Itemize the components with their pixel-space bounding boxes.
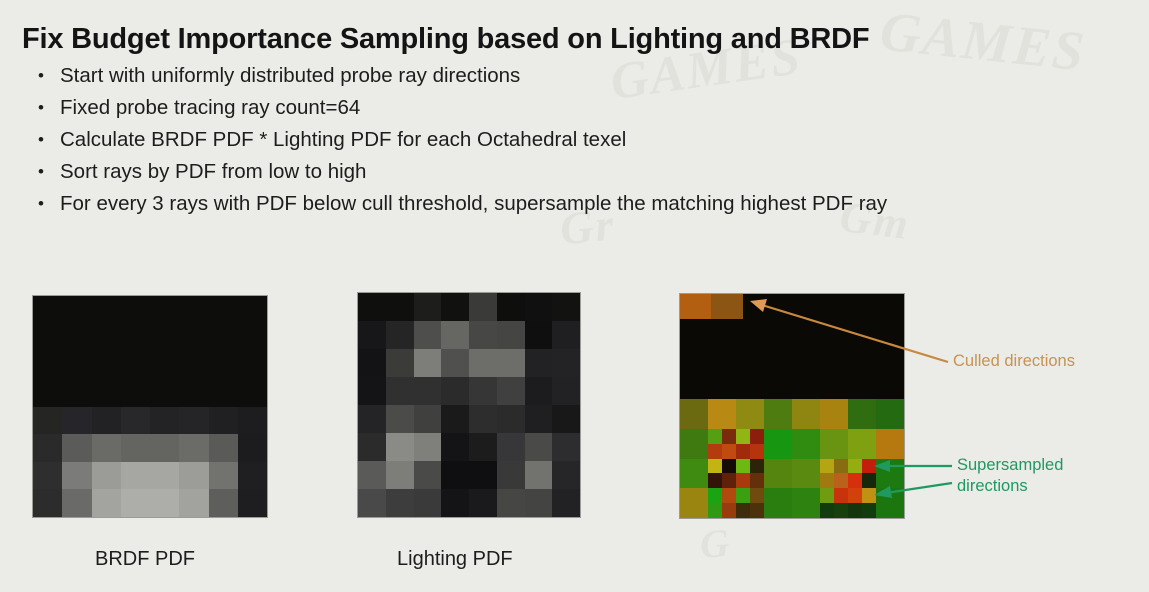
texel bbox=[552, 349, 580, 377]
sub-texel bbox=[820, 473, 834, 488]
texel bbox=[62, 462, 91, 490]
texel bbox=[386, 293, 414, 321]
texel bbox=[736, 399, 764, 429]
sub-texel bbox=[848, 488, 862, 503]
texel bbox=[414, 349, 442, 377]
sub-texel bbox=[820, 459, 834, 474]
texel bbox=[792, 429, 820, 459]
texel bbox=[469, 349, 497, 377]
sub-texel bbox=[736, 488, 750, 503]
sub-texel bbox=[736, 444, 750, 459]
texel bbox=[92, 351, 121, 379]
sub-texel bbox=[834, 473, 848, 488]
texel bbox=[441, 321, 469, 349]
texel bbox=[179, 434, 208, 462]
texel bbox=[552, 433, 580, 461]
texel bbox=[179, 351, 208, 379]
texel bbox=[525, 349, 553, 377]
texel bbox=[414, 405, 442, 433]
sub-texel bbox=[834, 503, 848, 518]
texel bbox=[469, 489, 497, 517]
sub-texel bbox=[862, 488, 876, 503]
texel bbox=[764, 459, 792, 489]
watermark-decoration: G bbox=[698, 519, 732, 568]
bullet-text: Start with uniformly distributed probe r… bbox=[60, 60, 1142, 92]
bullet-text: For every 3 rays with PDF below cull thr… bbox=[60, 188, 1142, 220]
texel bbox=[33, 379, 62, 407]
list-item: • For every 3 rays with PDF below cull t… bbox=[22, 188, 1142, 220]
texel bbox=[414, 377, 442, 405]
bullet-marker-icon: • bbox=[22, 92, 60, 124]
texel bbox=[497, 461, 525, 489]
texel bbox=[92, 462, 121, 490]
annotation-supersampled-line1: Supersampled bbox=[957, 455, 1063, 476]
texel bbox=[792, 459, 820, 489]
supersampled-texel bbox=[820, 459, 848, 489]
texel bbox=[92, 489, 121, 517]
culled-texel bbox=[680, 294, 711, 319]
texel bbox=[441, 489, 469, 517]
texel bbox=[469, 377, 497, 405]
texel bbox=[121, 351, 150, 379]
texel bbox=[876, 399, 904, 429]
texel bbox=[525, 489, 553, 517]
texel bbox=[62, 324, 91, 352]
texel bbox=[209, 351, 238, 379]
texel bbox=[414, 461, 442, 489]
bullet-marker-icon: • bbox=[22, 156, 60, 188]
texel bbox=[469, 293, 497, 321]
texel bbox=[876, 488, 904, 518]
texel bbox=[680, 429, 708, 459]
sub-texel bbox=[736, 429, 750, 444]
texel bbox=[150, 379, 179, 407]
texel bbox=[358, 405, 386, 433]
texel bbox=[680, 459, 708, 489]
texel bbox=[469, 321, 497, 349]
octa-dark-region bbox=[680, 294, 904, 399]
texel bbox=[386, 489, 414, 517]
sub-texel bbox=[750, 503, 764, 518]
list-item: • Fixed probe tracing ray count=64 bbox=[22, 92, 1142, 124]
supersampled-texel bbox=[736, 459, 764, 489]
texel bbox=[209, 489, 238, 517]
figure-octahedral-sampling bbox=[679, 293, 905, 519]
texel bbox=[792, 399, 820, 429]
texel bbox=[179, 379, 208, 407]
texel bbox=[497, 433, 525, 461]
sub-texel bbox=[848, 503, 862, 518]
supersampled-texel bbox=[708, 488, 736, 518]
supersampled-texel bbox=[708, 459, 736, 489]
sub-texel bbox=[708, 473, 722, 488]
texel bbox=[386, 377, 414, 405]
sub-texel bbox=[750, 444, 764, 459]
bullet-text: Calculate BRDF PDF * Lighting PDF for ea… bbox=[60, 124, 1142, 156]
texel bbox=[209, 324, 238, 352]
texel bbox=[764, 429, 792, 459]
texel bbox=[441, 349, 469, 377]
texel bbox=[62, 351, 91, 379]
texel bbox=[441, 461, 469, 489]
list-item: • Sort rays by PDF from low to high bbox=[22, 156, 1142, 188]
texel bbox=[238, 434, 267, 462]
sub-texel bbox=[862, 459, 876, 474]
bullet-marker-icon: • bbox=[22, 124, 60, 156]
texel bbox=[33, 351, 62, 379]
bullet-text: Fixed probe tracing ray count=64 bbox=[60, 92, 1142, 124]
texel bbox=[209, 296, 238, 324]
texel bbox=[497, 405, 525, 433]
bullet-text: Sort rays by PDF from low to high bbox=[60, 156, 1142, 188]
texel bbox=[386, 405, 414, 433]
sub-texel bbox=[750, 473, 764, 488]
texel bbox=[150, 296, 179, 324]
texel bbox=[414, 321, 442, 349]
brdf-texel-grid bbox=[33, 296, 267, 517]
culled-directions-texels bbox=[680, 294, 743, 319]
texel bbox=[121, 324, 150, 352]
texel bbox=[150, 434, 179, 462]
texel bbox=[414, 433, 442, 461]
sub-texel bbox=[820, 503, 834, 518]
texel bbox=[209, 407, 238, 435]
sub-texel bbox=[834, 488, 848, 503]
texel bbox=[708, 399, 736, 429]
texel bbox=[497, 293, 525, 321]
slide-title: Fix Budget Importance Sampling based on … bbox=[22, 23, 869, 56]
annotation-supersampled-line2: directions bbox=[957, 476, 1063, 497]
texel bbox=[238, 407, 267, 435]
texel bbox=[848, 399, 876, 429]
sub-texel bbox=[820, 488, 834, 503]
figure-brdf-pdf bbox=[32, 295, 268, 518]
texel bbox=[469, 405, 497, 433]
texel bbox=[62, 296, 91, 324]
texel bbox=[441, 293, 469, 321]
texel bbox=[414, 293, 442, 321]
list-item: • Calculate BRDF PDF * Lighting PDF for … bbox=[22, 124, 1142, 156]
texel bbox=[238, 489, 267, 517]
texel bbox=[92, 296, 121, 324]
texel bbox=[358, 321, 386, 349]
sub-texel bbox=[848, 473, 862, 488]
texel bbox=[525, 321, 553, 349]
texel bbox=[238, 351, 267, 379]
texel bbox=[680, 488, 708, 518]
texel bbox=[179, 324, 208, 352]
sub-texel bbox=[862, 473, 876, 488]
supersampled-texel bbox=[820, 488, 848, 518]
sub-texel bbox=[848, 459, 862, 474]
texel bbox=[441, 377, 469, 405]
texel bbox=[121, 434, 150, 462]
texel bbox=[497, 349, 525, 377]
sub-texel bbox=[722, 444, 736, 459]
texel bbox=[552, 377, 580, 405]
texel bbox=[386, 461, 414, 489]
bullet-list: • Start with uniformly distributed probe… bbox=[22, 60, 1142, 220]
texel bbox=[848, 429, 876, 459]
texel bbox=[386, 433, 414, 461]
texel bbox=[386, 349, 414, 377]
texel bbox=[62, 407, 91, 435]
texel bbox=[441, 405, 469, 433]
sub-texel bbox=[736, 459, 750, 474]
texel bbox=[358, 433, 386, 461]
texel bbox=[238, 379, 267, 407]
texel bbox=[33, 324, 62, 352]
supersampled-texel bbox=[708, 429, 736, 459]
sub-texel bbox=[708, 429, 722, 444]
texel bbox=[441, 433, 469, 461]
texel bbox=[525, 433, 553, 461]
texel bbox=[469, 461, 497, 489]
sub-texel bbox=[722, 473, 736, 488]
texel bbox=[820, 429, 848, 459]
texel bbox=[358, 489, 386, 517]
texel bbox=[121, 379, 150, 407]
bullet-marker-icon: • bbox=[22, 60, 60, 92]
sub-texel bbox=[722, 459, 736, 474]
texel bbox=[552, 461, 580, 489]
texel bbox=[876, 459, 904, 489]
slide-canvas: GAMES GAMES Gr Gm G Fix Budget Importanc… bbox=[0, 0, 1149, 592]
supersampled-texel bbox=[848, 459, 876, 489]
texel bbox=[121, 489, 150, 517]
texel bbox=[179, 296, 208, 324]
texel bbox=[876, 429, 904, 459]
texel bbox=[469, 433, 497, 461]
texel bbox=[209, 434, 238, 462]
texel bbox=[62, 434, 91, 462]
texel bbox=[150, 351, 179, 379]
texel bbox=[92, 434, 121, 462]
culled-texel bbox=[711, 294, 742, 319]
texel bbox=[680, 399, 708, 429]
texel bbox=[414, 489, 442, 517]
texel bbox=[150, 407, 179, 435]
caption-lighting-pdf: Lighting PDF bbox=[397, 548, 513, 571]
texel bbox=[150, 462, 179, 490]
texel bbox=[764, 399, 792, 429]
texel bbox=[525, 293, 553, 321]
supersampled-texel bbox=[736, 429, 764, 459]
sub-texel bbox=[750, 459, 764, 474]
list-item: • Start with uniformly distributed probe… bbox=[22, 60, 1142, 92]
annotation-supersampled-directions: Supersampled directions bbox=[957, 455, 1063, 497]
texel bbox=[179, 407, 208, 435]
sub-texel bbox=[736, 503, 750, 518]
sub-texel bbox=[862, 503, 876, 518]
texel bbox=[358, 461, 386, 489]
octa-sampled-grid bbox=[680, 399, 904, 518]
texel bbox=[92, 324, 121, 352]
texel bbox=[179, 462, 208, 490]
texel bbox=[121, 462, 150, 490]
texel bbox=[525, 405, 553, 433]
texel bbox=[552, 405, 580, 433]
figure-lighting-pdf bbox=[357, 292, 581, 518]
supersampled-texel bbox=[736, 488, 764, 518]
texel bbox=[525, 377, 553, 405]
texel bbox=[209, 379, 238, 407]
texel bbox=[33, 407, 62, 435]
sub-texel bbox=[750, 488, 764, 503]
sub-texel bbox=[708, 503, 722, 518]
texel bbox=[358, 293, 386, 321]
texel bbox=[33, 434, 62, 462]
texel bbox=[552, 489, 580, 517]
texel bbox=[497, 377, 525, 405]
texel bbox=[552, 293, 580, 321]
texel bbox=[62, 379, 91, 407]
sub-texel bbox=[722, 503, 736, 518]
bullet-marker-icon: • bbox=[22, 188, 60, 220]
caption-brdf-pdf: BRDF PDF bbox=[95, 548, 195, 571]
texel bbox=[121, 407, 150, 435]
texel bbox=[33, 462, 62, 490]
texel bbox=[121, 296, 150, 324]
texel bbox=[150, 324, 179, 352]
texel bbox=[238, 462, 267, 490]
sub-texel bbox=[736, 473, 750, 488]
lighting-texel-grid bbox=[358, 293, 580, 517]
texel bbox=[525, 461, 553, 489]
texel bbox=[792, 488, 820, 518]
sub-texel bbox=[708, 488, 722, 503]
texel bbox=[386, 321, 414, 349]
texel bbox=[33, 296, 62, 324]
texel bbox=[552, 321, 580, 349]
texel bbox=[92, 407, 121, 435]
supersampled-texel bbox=[848, 488, 876, 518]
texel bbox=[33, 489, 62, 517]
sub-texel bbox=[834, 459, 848, 474]
texel bbox=[150, 489, 179, 517]
texel bbox=[358, 349, 386, 377]
texel bbox=[209, 462, 238, 490]
texel bbox=[179, 489, 208, 517]
texel bbox=[238, 324, 267, 352]
annotation-culled-directions: Culled directions bbox=[953, 351, 1075, 372]
texel bbox=[764, 488, 792, 518]
texel bbox=[358, 377, 386, 405]
texel bbox=[497, 321, 525, 349]
texel bbox=[497, 489, 525, 517]
sub-texel bbox=[722, 488, 736, 503]
sub-texel bbox=[722, 429, 736, 444]
texel bbox=[62, 489, 91, 517]
sub-texel bbox=[750, 429, 764, 444]
sub-texel bbox=[708, 444, 722, 459]
texel bbox=[238, 296, 267, 324]
texel bbox=[820, 399, 848, 429]
texel bbox=[92, 379, 121, 407]
sub-texel bbox=[708, 459, 722, 474]
